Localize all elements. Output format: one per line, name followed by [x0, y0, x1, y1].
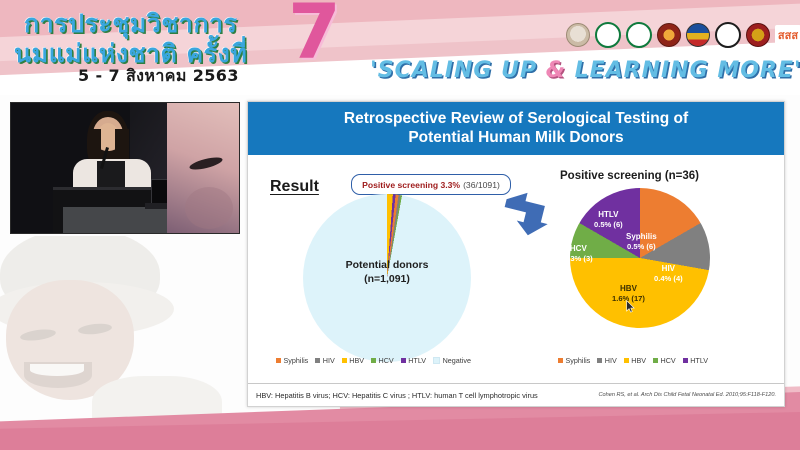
pie-slice-label-htlv: HTLV 0.5% (6)	[594, 210, 623, 230]
legend-swatch-negative	[433, 357, 440, 364]
legend-item-negative: Negative	[433, 356, 471, 365]
slice-name-hiv: HIV	[662, 264, 675, 273]
screenshot-root: การประชุมวิชาการ นมแม่แห่งชาติ ครั้งที่ …	[0, 0, 800, 450]
logo-black-circle-institute-icon	[715, 22, 741, 48]
legend-potential-donors: Syphilis HIV HBV HCV HTLV Negative	[276, 356, 471, 365]
slice-name-syphilis: Syphilis	[626, 232, 657, 241]
callout-secondary-text: (36/1091)	[463, 180, 500, 190]
legend-label-htlv-2: HTLV	[690, 356, 708, 365]
legend-label-hbv: HBV	[349, 356, 364, 365]
flow-arrow-icon	[499, 190, 553, 238]
legend-item-hcv-2: HCV	[653, 356, 676, 365]
logo-royal-emblem-icon	[657, 23, 681, 47]
legend-swatch-hiv	[315, 358, 320, 363]
legend-swatch-htlv	[401, 358, 406, 363]
legend-label-htlv: HTLV	[408, 356, 426, 365]
slice-value-syphilis: 0.5% (6)	[626, 242, 657, 252]
legend-label-hiv-2: HIV	[605, 356, 617, 365]
slide-title-line2: Potential Human Milk Donors	[408, 129, 623, 148]
tagline-ampersand: &	[546, 58, 566, 83]
slide-title-line1: Retrospective Review of Serological Test…	[344, 110, 688, 129]
chart-positive-screening-pie: Syphilis 0.5% (6) HIV 0.4% (4) HBV 1.6% …	[570, 188, 710, 328]
logo-ministry-public-health-1-icon	[595, 22, 621, 48]
watermark-teeth	[30, 364, 84, 376]
chart-positive-screening-title: Positive screening (n=36)	[560, 170, 699, 182]
slide-footer: HBV: Hepatitis B virus; HCV: Hepatitis C…	[248, 383, 784, 406]
legend-swatch-hcv	[371, 358, 376, 363]
pie-slice-label-hiv: HIV 0.4% (4)	[654, 264, 683, 284]
podium-glass-panel	[63, 207, 167, 233]
logo-thaihealth-icon: สสส	[775, 25, 800, 45]
logo-thai-university-icon	[686, 23, 710, 47]
presentation-slide[interactable]: Retrospective Review of Serological Test…	[247, 101, 785, 407]
legend-label-syphilis: Syphilis	[284, 356, 309, 365]
callout-primary-text: Positive screening 3.3%	[362, 180, 460, 190]
chart-potential-donors-pie: Potential donors (n=1,091)	[303, 194, 471, 362]
slice-value-htlv: 0.5% (6)	[594, 220, 623, 230]
legend-item-hiv: HIV	[315, 356, 334, 365]
logo-thai-royal-seal-icon	[566, 23, 590, 47]
conference-header-banner: การประชุมวิชาการ นมแม่แห่งชาติ ครั้งที่ …	[0, 0, 800, 95]
legend-item-hbv: HBV	[342, 356, 364, 365]
legend-label-hbv-2: HBV	[631, 356, 646, 365]
logo-red-crest-icon	[746, 23, 770, 47]
legend-swatch-hbv	[342, 358, 347, 363]
legend-swatch-hiv-2	[597, 358, 602, 363]
legend-label-syphilis-2: Syphilis	[566, 356, 591, 365]
legend-swatch-syphilis-2	[558, 358, 563, 363]
legend-label-hcv: HCV	[379, 356, 394, 365]
conference-edition-number: 7	[288, 0, 341, 70]
pie-slice-label-hcv: HCV 0.3% (3)	[564, 244, 593, 264]
legend-item-syphilis: Syphilis	[276, 356, 308, 365]
legend-item-hcv: HCV	[371, 356, 394, 365]
sponsor-logos-row: สสส	[566, 22, 800, 48]
slice-value-hiv: 0.4% (4)	[654, 274, 683, 284]
slice-name-htlv: HTLV	[598, 210, 618, 219]
legend-item-hiv-2: HIV	[597, 356, 616, 365]
legend-item-htlv-2: HTLV	[683, 356, 708, 365]
legend-item-syphilis-2: Syphilis	[558, 356, 590, 365]
speaker-video-panel[interactable]	[10, 102, 240, 234]
pie-left-label-line1: Potential donors	[303, 258, 471, 272]
legend-item-hbv-2: HBV	[624, 356, 646, 365]
legend-swatch-hcv-2	[653, 358, 658, 363]
positive-screening-callout: Positive screening 3.3% (36/1091)	[351, 174, 511, 195]
tagline-part2: LEARNING MORE'	[566, 58, 800, 83]
slice-name-hcv: HCV	[570, 244, 587, 253]
pie-slice-label-syphilis: Syphilis 0.5% (6)	[626, 232, 657, 252]
background-child-watermark-image	[0, 236, 222, 432]
conference-date: 5 - 7 สิงหาคม 2563	[78, 64, 239, 89]
tagline-part1: 'SCALING UP	[370, 58, 546, 83]
legend-item-htlv: HTLV	[401, 356, 426, 365]
pie-left-center-label: Potential donors (n=1,091)	[303, 258, 471, 286]
conference-tagline: 'SCALING UP & LEARNING MORE'	[370, 58, 800, 83]
legend-swatch-hbv-2	[624, 358, 629, 363]
legend-swatch-htlv-2	[683, 358, 688, 363]
mouse-cursor-icon	[626, 300, 635, 313]
slide-title-bar: Retrospective Review of Serological Test…	[248, 102, 784, 155]
legend-swatch-syphilis	[276, 358, 281, 363]
slice-name-hbv: HBV	[620, 284, 637, 293]
video-overlay-infant-cheek	[185, 187, 233, 229]
pie-left-label-line2: (n=1,091)	[303, 272, 471, 286]
legend-label-negative: Negative	[443, 356, 471, 365]
slide-citation: Cohen RS, et al. Arch Dis Child Fetal Ne…	[598, 392, 776, 398]
slide-footnote-abbreviations: HBV: Hepatitis B virus; HCV: Hepatitis C…	[256, 391, 538, 400]
legend-label-hiv: HIV	[323, 356, 335, 365]
logo-ministry-public-health-2-icon	[626, 22, 652, 48]
slice-value-hcv: 0.3% (3)	[564, 254, 593, 264]
legend-positive-screening: Syphilis HIV HBV HCV HTLV	[558, 356, 708, 365]
legend-label-hcv-2: HCV	[661, 356, 676, 365]
